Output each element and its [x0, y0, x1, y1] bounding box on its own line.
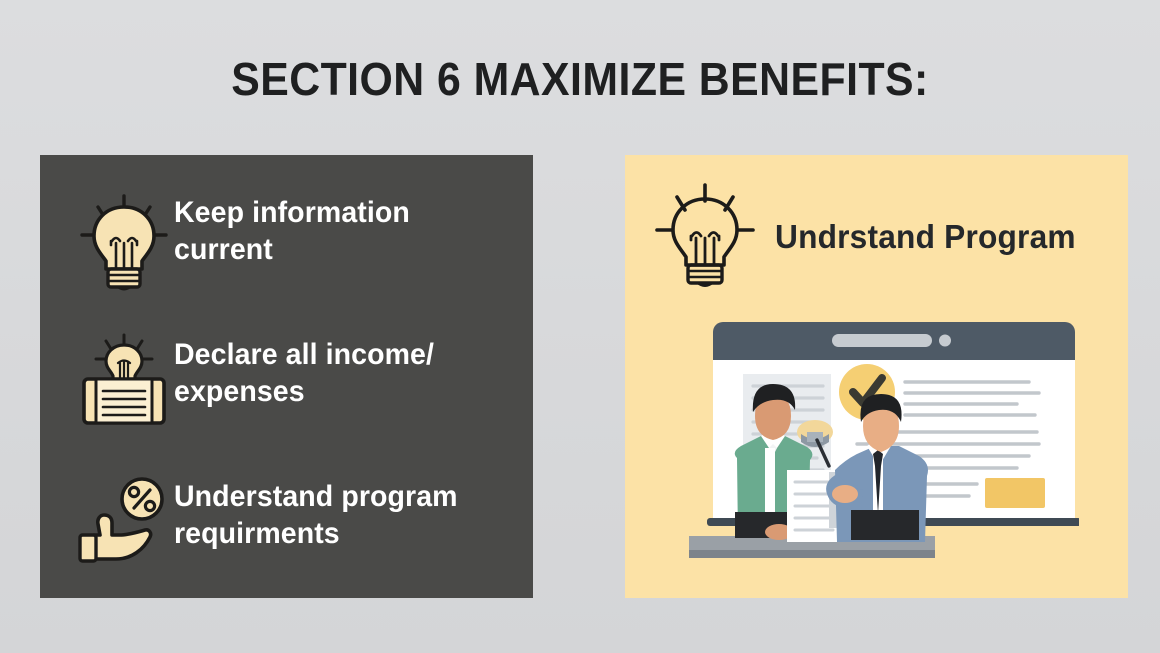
- list-item-label: Keep information current: [174, 191, 502, 268]
- list-item-label: Declare all income/ expenses: [174, 333, 502, 410]
- list-item: Keep information current: [74, 191, 519, 295]
- benefits-list-panel: Keep information current: [40, 155, 533, 598]
- list-item-label: Understand program requirments: [174, 475, 502, 552]
- lightbulb-icon: [74, 191, 174, 295]
- document-idea-icon: [74, 333, 174, 433]
- panel-header-label: Undrstand Program: [775, 218, 1076, 256]
- hand-percent-icon: [74, 475, 174, 567]
- list-item: Declare all income/ expenses: [74, 333, 519, 433]
- screen-accent-button: [985, 478, 1045, 508]
- slide-canvas: SECTION 6 MAXIMIZE BENEFITS:: [0, 0, 1160, 653]
- illustration-two-people-reviewing-document: [677, 320, 1079, 580]
- panel-header: Undrstand Program: [653, 181, 1108, 293]
- lightbulb-outline-icon: [653, 181, 757, 293]
- list-item: Understand program requirments: [74, 475, 519, 567]
- program-illustration-panel: Undrstand Program: [625, 155, 1128, 598]
- page-title: SECTION 6 MAXIMIZE BENEFITS:: [41, 52, 1120, 106]
